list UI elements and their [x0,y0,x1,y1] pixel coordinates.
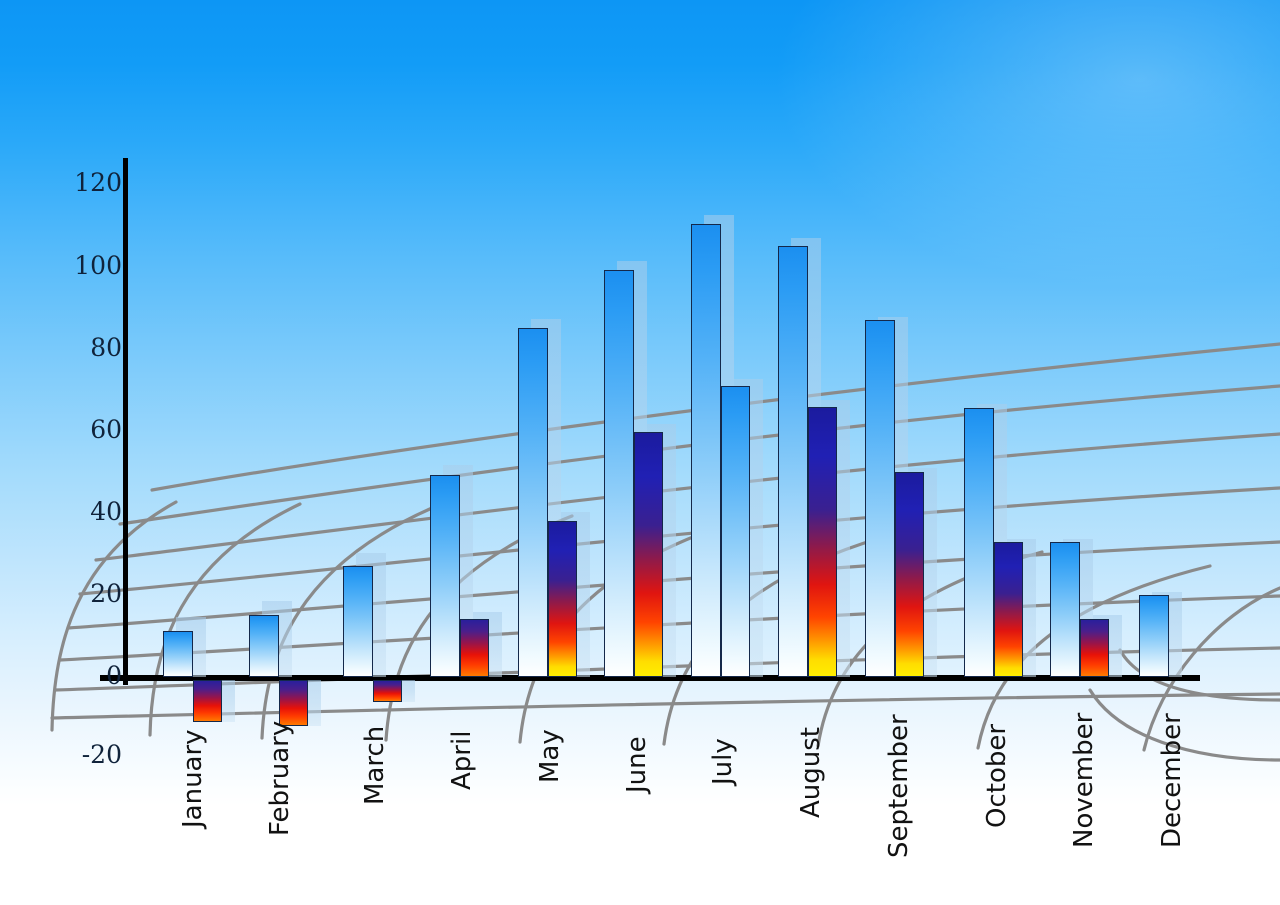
x-label-april: April [447,731,477,790]
bar-hot-august [808,407,837,677]
bar-hot-april [460,619,489,677]
bar-blue-april [430,475,460,677]
bar-blue-january [163,631,193,677]
y-axis-line [123,158,128,685]
x-label-january: January [178,729,208,828]
chart-canvas: 120 100 80 60 40 20 0 -20 [0,0,1280,905]
bar-hot-february [279,680,308,726]
bar-hot-june [634,432,663,677]
bar-blue-october [964,408,994,677]
bar-blue-august [778,246,808,677]
bar-blue-may [518,328,548,677]
bar-blue-march [343,566,373,677]
x-label-february: February [265,721,295,836]
x-label-november: November [1069,713,1099,848]
bar-hot-october [994,542,1023,677]
bar-hot-july [721,386,750,677]
bar-blue-december [1139,595,1169,677]
bar-hot-november [1080,619,1109,677]
y-tick-label-minus20: -20 [42,740,122,769]
bar-hot-may [548,521,577,677]
x-label-july: July [708,738,738,785]
bar-hot-march [373,680,402,702]
plot-area: 120 100 80 60 40 20 0 -20 [0,0,1280,905]
y-tick-label-20: 20 [52,579,122,608]
y-tick-label-100: 100 [52,251,122,280]
x-label-october: October [982,724,1012,828]
x-label-june: June [622,736,652,793]
x-label-august: August [796,727,826,818]
x-label-march: March [360,726,390,805]
y-tick-label-120: 120 [52,168,122,197]
bar-hot-january [193,680,222,722]
y-tick-label-60: 60 [52,415,122,444]
x-label-december: December [1157,713,1187,848]
bar-blue-september [865,320,895,677]
y-tick-label-40: 40 [52,497,122,526]
x-label-september: September [884,714,914,858]
x-label-may: May [535,729,565,783]
bar-blue-november [1050,542,1080,677]
y-tick-label-0: 0 [52,661,122,690]
y-tick-label-80: 80 [52,333,122,362]
bar-blue-february [249,615,279,677]
bar-blue-june [604,270,634,677]
bar-blue-july [691,224,721,677]
bar-hot-september [895,472,924,677]
